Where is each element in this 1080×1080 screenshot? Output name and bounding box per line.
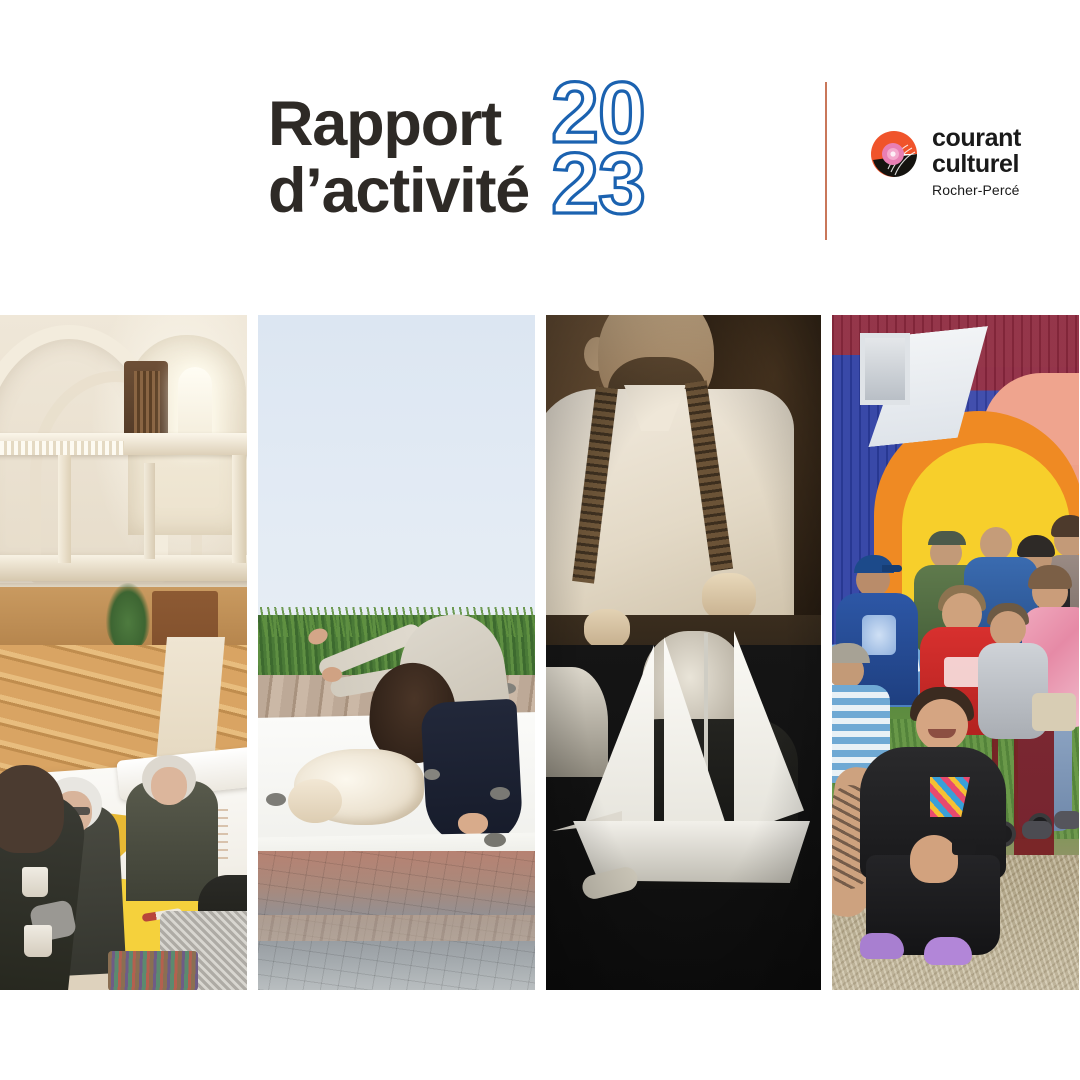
brand-wordmark: courant culturel Rocher-Percé [932, 126, 1021, 197]
year-bottom-digits: 23 [551, 149, 645, 220]
photo-scene-4 [832, 315, 1079, 990]
photo-strip [0, 315, 1080, 990]
title-line-activite: d’activité [268, 161, 529, 222]
photo-panel-outdoor-dance [258, 315, 535, 990]
courant-culturel-logomark-icon [868, 128, 920, 180]
photo-panel-church-workshop [0, 315, 247, 990]
year-badge: 20 23 [551, 78, 645, 219]
photo-scene-2 [258, 315, 535, 990]
photo-panel-archival-heritage [546, 315, 821, 990]
header-vertical-divider [825, 82, 827, 240]
brand-name-line-1: courant [932, 126, 1021, 151]
brand-logo[interactable]: courant culturel Rocher-Percé [868, 126, 1021, 197]
title-lockup: Rapport d’activité 20 23 [268, 86, 645, 222]
cover-header: Rapport d’activité 20 23 [0, 0, 1080, 315]
brand-name-line-2: culturel [932, 152, 1021, 177]
brand-region-label: Rocher-Percé [932, 183, 1021, 197]
report-title: Rapport d’activité [268, 86, 529, 222]
report-cover-poster: Rapport d’activité 20 23 [0, 0, 1080, 1080]
photo-scene-1 [0, 315, 247, 990]
photo-scene-3 [546, 315, 821, 990]
title-line-rapport: Rapport [268, 94, 529, 155]
photo-panel-mural-group [832, 315, 1079, 990]
